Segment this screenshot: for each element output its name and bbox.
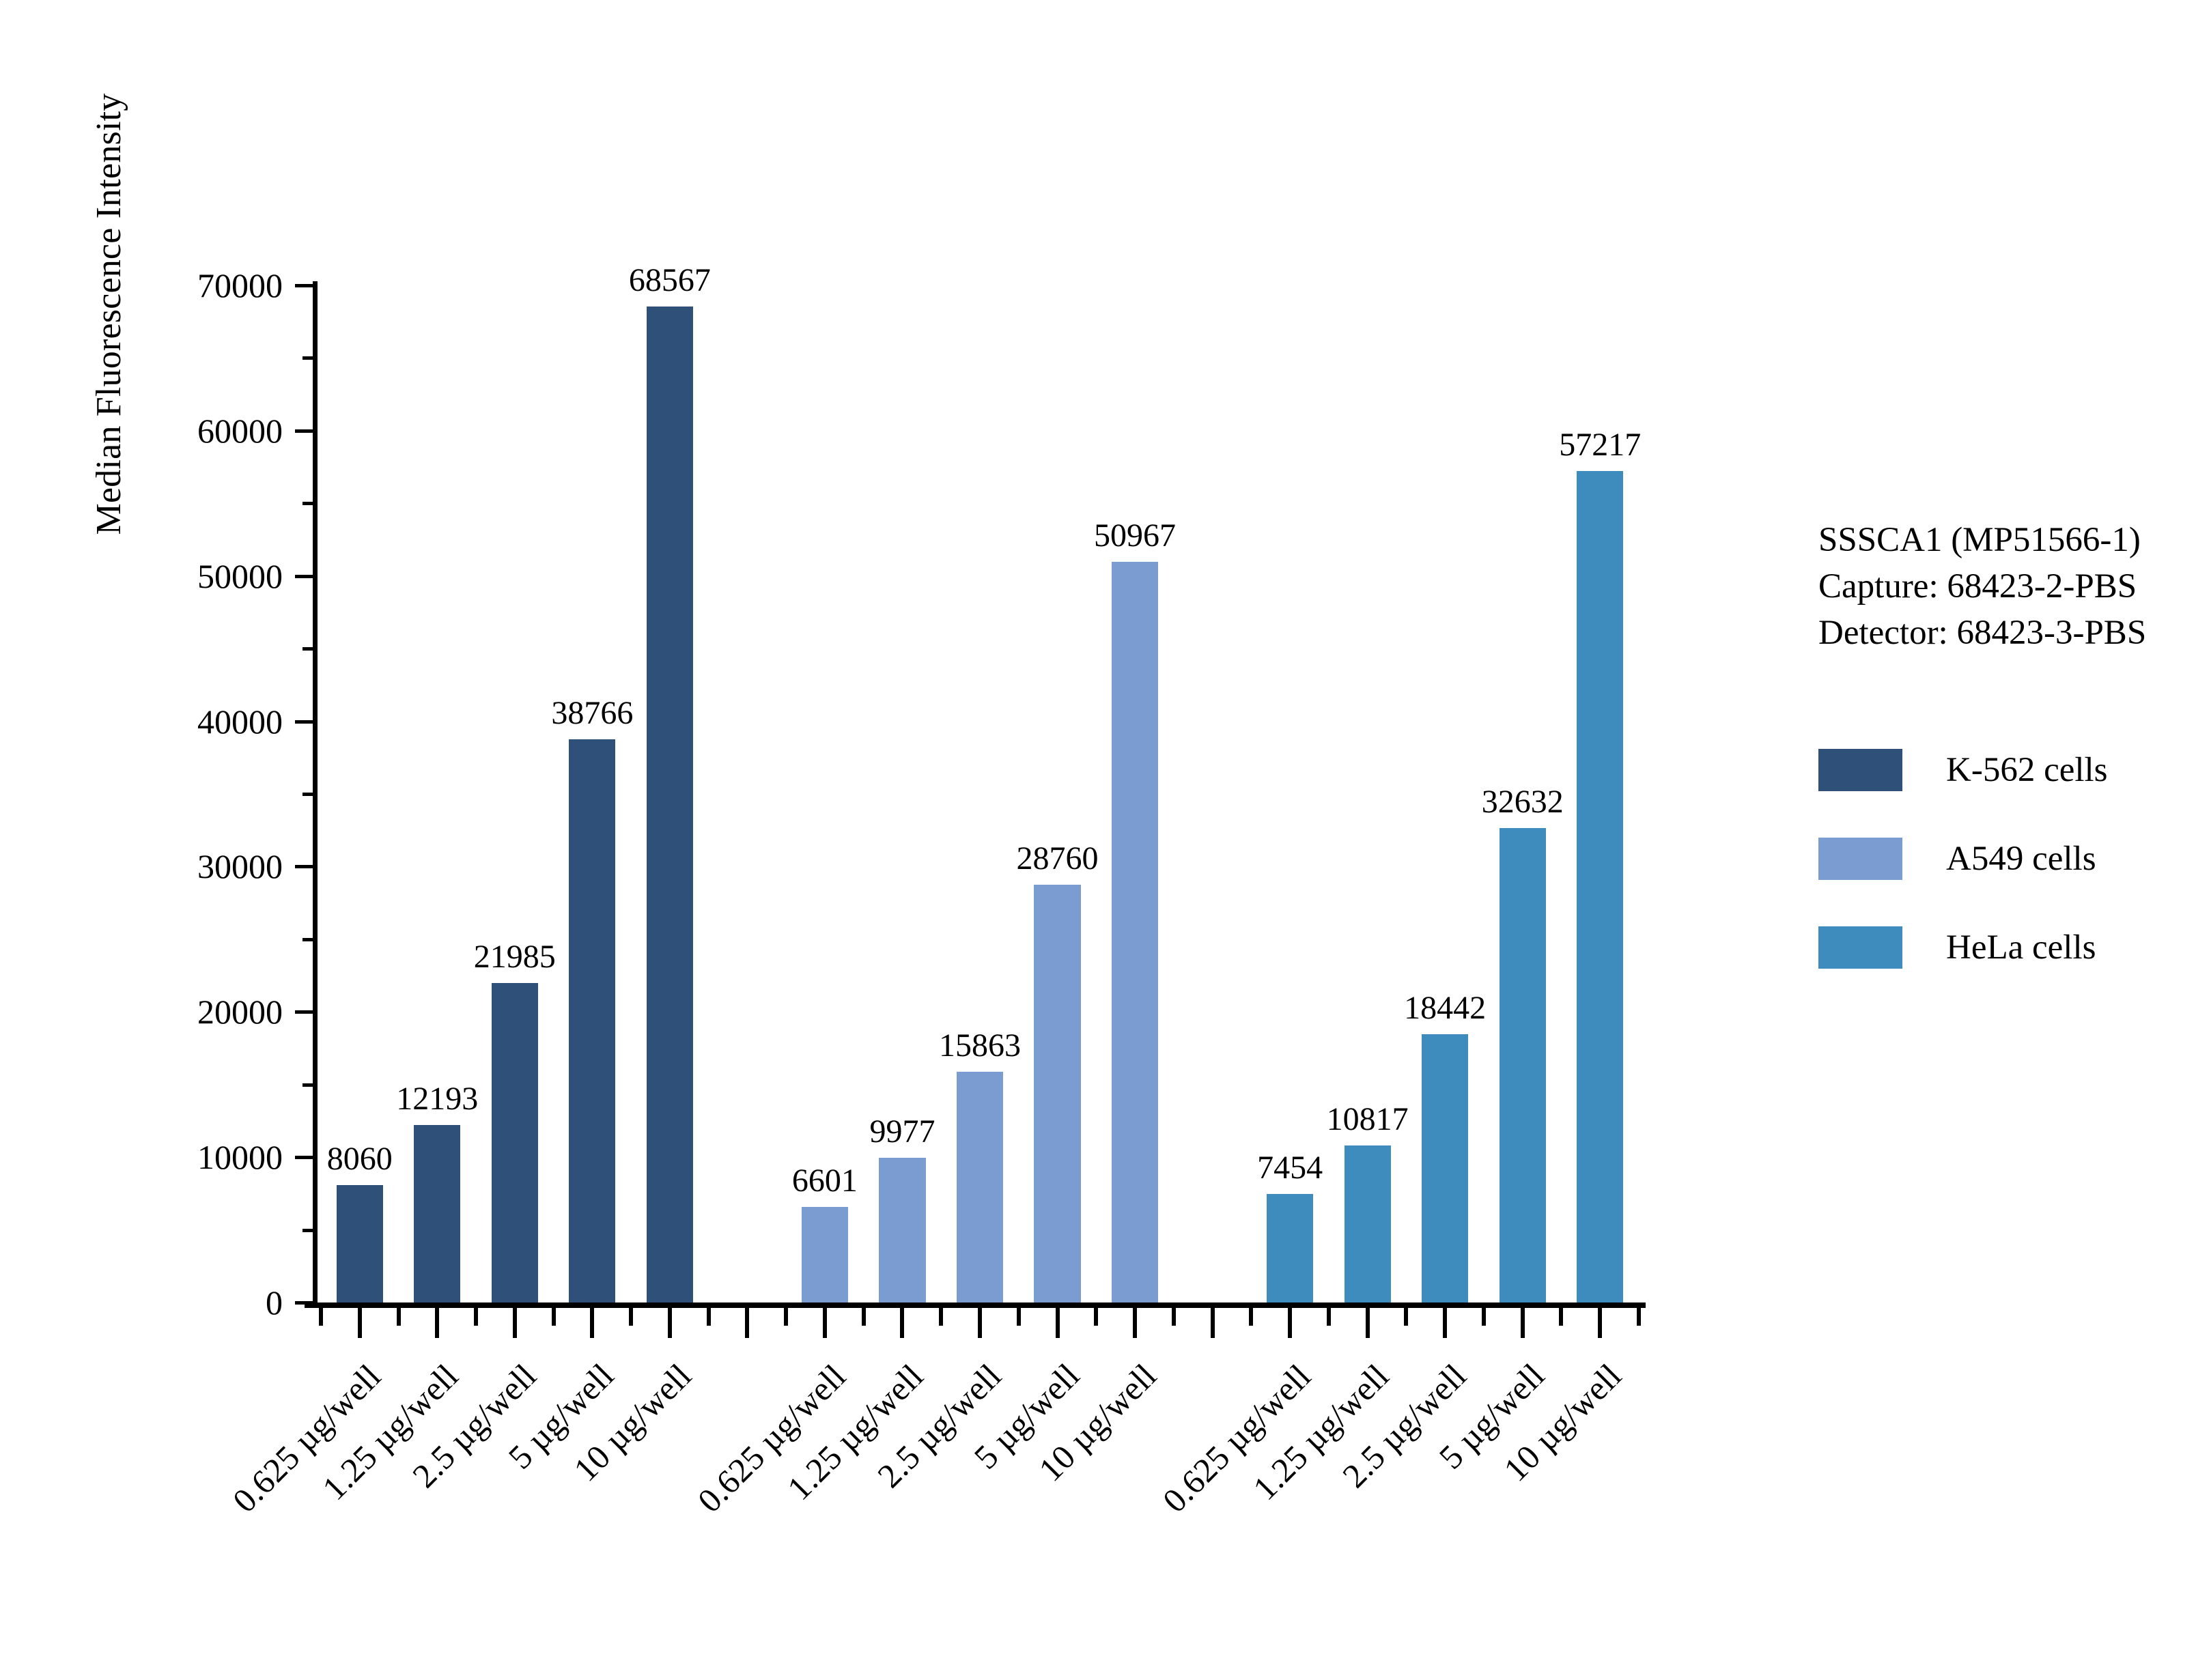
annotation-line-2: Capture: 68423-2-PBS bbox=[1818, 563, 2146, 610]
bar[interactable]: 15863 bbox=[957, 1072, 1003, 1302]
legend-item[interactable]: HeLa cells bbox=[1818, 903, 2173, 992]
y-major-tick bbox=[295, 1301, 313, 1305]
x-minor-tick bbox=[1017, 1308, 1021, 1326]
x-minor-tick bbox=[1327, 1308, 1331, 1326]
bar-value-label: 7454 bbox=[1257, 1152, 1323, 1184]
x-minor-tick bbox=[629, 1308, 633, 1326]
x-major-tick bbox=[1598, 1308, 1602, 1338]
bar-value-label: 8060 bbox=[327, 1143, 393, 1176]
bar[interactable]: 68567 bbox=[647, 307, 693, 1302]
y-tick-label: 10000 bbox=[78, 1140, 283, 1174]
x-minor-tick bbox=[1172, 1308, 1176, 1326]
y-major-tick bbox=[295, 284, 313, 287]
bar-value-label: 12193 bbox=[396, 1083, 478, 1115]
bar-value-label: 9977 bbox=[869, 1115, 935, 1148]
y-major-tick bbox=[295, 720, 313, 724]
bar[interactable]: 7454 bbox=[1267, 1194, 1313, 1302]
bar-value-label: 10817 bbox=[1327, 1103, 1409, 1136]
x-major-tick bbox=[978, 1308, 982, 1338]
bar-value-label: 32632 bbox=[1482, 786, 1564, 818]
y-minor-tick bbox=[302, 502, 313, 505]
x-minor-tick bbox=[1249, 1308, 1253, 1326]
x-major-tick bbox=[1366, 1308, 1370, 1338]
x-minor-tick bbox=[474, 1308, 478, 1326]
legend-label: K-562 cells bbox=[1946, 753, 2108, 788]
bar[interactable]: 38766 bbox=[569, 739, 615, 1302]
bar-value-label: 68567 bbox=[629, 264, 711, 297]
bar[interactable]: 6601 bbox=[802, 1207, 848, 1303]
x-major-tick bbox=[590, 1308, 594, 1338]
annotation-line-1: SSSCA1 (MP51566-1) bbox=[1818, 517, 2146, 563]
legend-swatch bbox=[1818, 838, 1902, 880]
bar-value-label: 15863 bbox=[939, 1029, 1021, 1062]
y-axis-title: Median Fluorescence Intensity bbox=[82, 41, 137, 587]
bar[interactable]: 12193 bbox=[414, 1125, 460, 1302]
y-minor-tick bbox=[302, 938, 313, 941]
x-minor-tick bbox=[939, 1308, 943, 1326]
x-minor-tick bbox=[707, 1308, 711, 1326]
y-minor-tick bbox=[302, 356, 313, 360]
bar[interactable]: 18442 bbox=[1422, 1034, 1468, 1302]
x-minor-tick bbox=[552, 1308, 556, 1326]
x-minor-tick bbox=[397, 1308, 401, 1326]
x-minor-tick bbox=[784, 1308, 788, 1326]
y-tick-label: 70000 bbox=[78, 268, 283, 302]
bar[interactable]: 50967 bbox=[1112, 562, 1158, 1302]
y-tick-label: 30000 bbox=[78, 849, 283, 883]
x-major-tick bbox=[823, 1308, 827, 1338]
y-tick-label: 60000 bbox=[78, 414, 283, 448]
x-minor-tick bbox=[1404, 1308, 1408, 1326]
y-tick-label: 20000 bbox=[78, 995, 283, 1029]
y-tick-label: 50000 bbox=[78, 559, 283, 593]
legend-label: A549 cells bbox=[1946, 842, 2096, 877]
plot-area: 010000200003000040000500006000070000 806… bbox=[321, 285, 1639, 1302]
y-major-tick bbox=[295, 865, 313, 868]
y-major-tick bbox=[295, 575, 313, 578]
bar-value-label: 38766 bbox=[551, 697, 633, 730]
bar[interactable]: 57217 bbox=[1577, 471, 1623, 1302]
bar[interactable]: 8060 bbox=[337, 1185, 383, 1302]
y-major-tick bbox=[295, 1156, 313, 1159]
chart-legend: K-562 cellsA549 cellsHeLa cells bbox=[1818, 726, 2173, 992]
y-tick-label: 40000 bbox=[78, 704, 283, 739]
bar-value-label: 57217 bbox=[1559, 429, 1641, 461]
x-minor-tick bbox=[1094, 1308, 1098, 1326]
y-minor-tick bbox=[302, 1229, 313, 1232]
bar-value-label: 18442 bbox=[1404, 992, 1486, 1025]
x-major-tick bbox=[1443, 1308, 1447, 1338]
bar[interactable]: 10817 bbox=[1345, 1145, 1391, 1302]
x-major-tick bbox=[745, 1308, 749, 1338]
bar-value-label: 50967 bbox=[1094, 519, 1176, 552]
y-tick-label: 0 bbox=[78, 1285, 283, 1320]
legend-label: HeLa cells bbox=[1946, 930, 2096, 965]
y-major-tick bbox=[295, 429, 313, 433]
x-minor-tick bbox=[862, 1308, 866, 1326]
x-minor-tick bbox=[1482, 1308, 1486, 1326]
bar-value-label: 6601 bbox=[792, 1165, 858, 1197]
bar[interactable]: 9977 bbox=[879, 1158, 925, 1302]
chart-figure: Median Fluorescence Intensity 0100002000… bbox=[0, 0, 2196, 1680]
y-axis-line bbox=[313, 281, 318, 1307]
annotation-line-3: Detector: 68423-3-PBS bbox=[1818, 610, 2146, 656]
legend-item[interactable]: A549 cells bbox=[1818, 814, 2173, 903]
bar-value-label: 28760 bbox=[1017, 842, 1099, 875]
legend-swatch bbox=[1818, 749, 1902, 791]
y-minor-tick bbox=[302, 647, 313, 651]
bar[interactable]: 32632 bbox=[1500, 828, 1546, 1302]
assay-annotation: SSSCA1 (MP51566-1) Capture: 68423-2-PBS … bbox=[1818, 517, 2146, 656]
x-major-tick bbox=[513, 1308, 517, 1338]
x-major-tick bbox=[435, 1308, 439, 1338]
x-major-tick bbox=[1056, 1308, 1060, 1338]
x-minor-tick bbox=[1559, 1308, 1563, 1326]
bar[interactable]: 21985 bbox=[492, 983, 538, 1302]
y-minor-tick bbox=[302, 793, 313, 796]
x-major-tick bbox=[1211, 1308, 1215, 1338]
legend-swatch bbox=[1818, 926, 1902, 969]
bar-value-label: 21985 bbox=[474, 941, 556, 973]
x-axis-line bbox=[305, 1302, 1646, 1308]
x-major-tick bbox=[1521, 1308, 1525, 1338]
x-major-tick bbox=[1133, 1308, 1137, 1338]
bar[interactable]: 28760 bbox=[1034, 885, 1080, 1302]
y-major-tick bbox=[295, 1010, 313, 1014]
x-major-tick bbox=[900, 1308, 904, 1338]
x-major-tick bbox=[668, 1308, 672, 1338]
x-major-tick bbox=[358, 1308, 362, 1338]
x-minor-tick bbox=[1637, 1308, 1641, 1326]
x-minor-tick bbox=[319, 1308, 323, 1326]
y-minor-tick bbox=[302, 1083, 313, 1087]
x-major-tick bbox=[1288, 1308, 1292, 1338]
legend-item[interactable]: K-562 cells bbox=[1818, 726, 2173, 814]
